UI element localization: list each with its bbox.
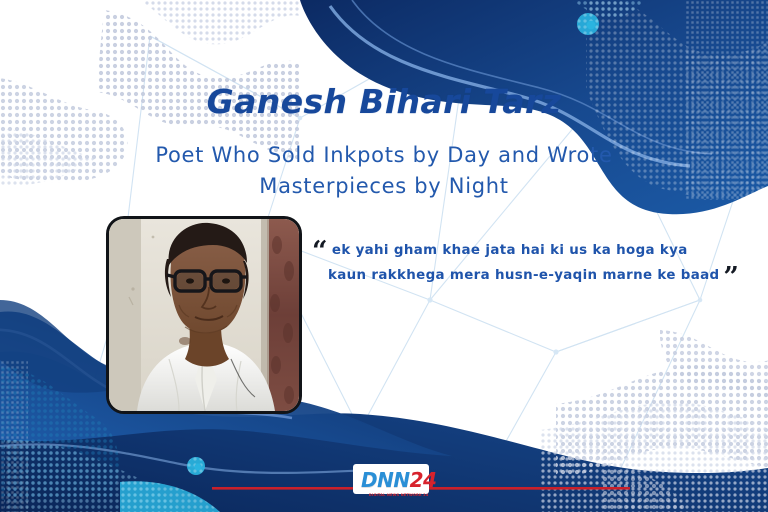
logo-wordmark: DNN 24 (361, 468, 436, 492)
logo-tagline: DIGITAL NEWS NETWORK 24 (369, 493, 429, 497)
bottom-left-accent-dots (187, 457, 205, 475)
dnn24-logo[interactable]: DNN 24 DIGITAL NEWS NETWORK 24 (361, 468, 436, 497)
quote-line-2-text: kaun rakkhega mera husn-e-yaqin marne ke… (328, 268, 719, 283)
logo-secondary-text: 24 (410, 468, 437, 492)
quote-line-1-text: ek yahi gham khae jata hai ki us ka hoga… (332, 243, 688, 258)
poster-canvas: Ganesh Bihari Tarz Poet Who Sold Inkpots… (0, 0, 768, 512)
quote-open-icon: “ (312, 236, 328, 267)
portrait-illustration (109, 219, 299, 411)
logo-primary-text: DNN (361, 468, 410, 492)
quote-line-1: “ek yahi gham khae jata hai ki us ka hog… (312, 238, 752, 263)
subtitle-line-2: Masterpieces by Night (96, 171, 672, 202)
top-right-accent-dots (577, 13, 599, 35)
page-title: Ganesh Bihari Tarz (0, 82, 768, 121)
poet-portrait (106, 216, 302, 414)
quote-line-2: kaun rakkhega mera husn-e-yaqin marne ke… (312, 263, 752, 288)
quote-close-icon: ” (723, 262, 739, 293)
page-subtitle: Poet Who Sold Inkpots by Day and Wrote M… (96, 140, 672, 202)
quote-block: “ek yahi gham khae jata hai ki us ka hog… (312, 238, 752, 288)
subtitle-line-1: Poet Who Sold Inkpots by Day and Wrote (96, 140, 672, 171)
